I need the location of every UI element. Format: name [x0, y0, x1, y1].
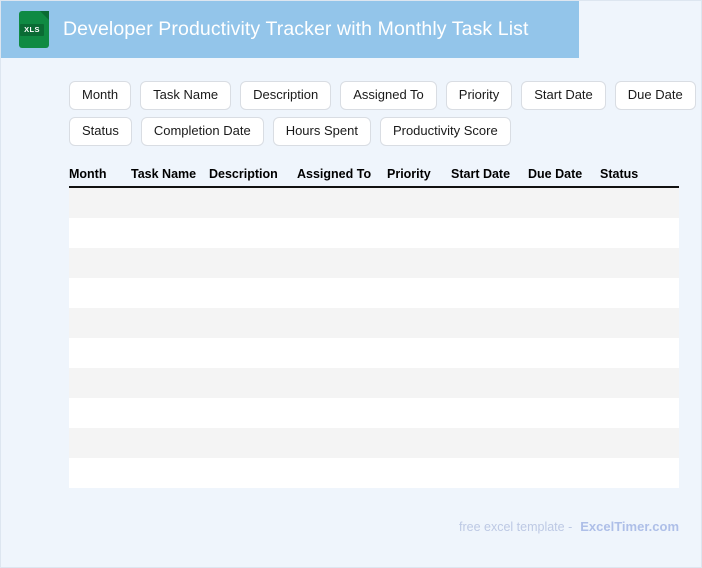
table-row[interactable]: [69, 188, 679, 218]
table-row[interactable]: [69, 248, 679, 278]
field-pill-row-2: Status Completion Date Hours Spent Produ…: [69, 117, 683, 146]
table-column-start-date: Start Date: [451, 167, 528, 181]
field-pill-status[interactable]: Status: [69, 117, 132, 146]
table-column-description: Description: [209, 167, 297, 181]
field-pill-row-1: Month Task Name Description Assigned To …: [69, 81, 683, 110]
field-pill-group: Month Task Name Description Assigned To …: [69, 81, 683, 153]
field-pill-description[interactable]: Description: [240, 81, 331, 110]
field-pill-due-date[interactable]: Due Date: [615, 81, 696, 110]
table-row[interactable]: [69, 368, 679, 398]
field-pill-task-name[interactable]: Task Name: [140, 81, 231, 110]
table-row[interactable]: [69, 218, 679, 248]
table-column-task-name: Task Name: [131, 167, 209, 181]
table-row[interactable]: [69, 278, 679, 308]
footer: free excel template - ExcelTimer.com: [459, 519, 679, 534]
field-pill-hours-spent[interactable]: Hours Spent: [273, 117, 371, 146]
table-column-assigned-to: Assigned To: [297, 167, 387, 181]
table-row[interactable]: [69, 398, 679, 428]
footer-brand-link[interactable]: ExcelTimer.com: [580, 519, 679, 534]
table-row[interactable]: [69, 338, 679, 368]
table-header-row: Month Task Name Description Assigned To …: [69, 167, 679, 188]
task-table: Month Task Name Description Assigned To …: [69, 167, 679, 488]
header-bar: XLS Developer Productivity Tracker with …: [1, 1, 579, 58]
table-row[interactable]: [69, 428, 679, 458]
field-pill-start-date[interactable]: Start Date: [521, 81, 606, 110]
file-icon-fold: [40, 11, 49, 20]
field-pill-assigned-to[interactable]: Assigned To: [340, 81, 437, 110]
table-column-due-date: Due Date: [528, 167, 600, 181]
page-title: Developer Productivity Tracker with Mont…: [63, 18, 529, 41]
table-column-priority: Priority: [387, 167, 451, 181]
field-pill-completion-date[interactable]: Completion Date: [141, 117, 264, 146]
table-column-month: Month: [69, 167, 131, 181]
file-icon-label: XLS: [20, 24, 44, 36]
xls-file-icon: XLS: [19, 11, 49, 48]
field-pill-month[interactable]: Month: [69, 81, 131, 110]
field-pill-priority[interactable]: Priority: [446, 81, 512, 110]
table-row[interactable]: [69, 458, 679, 488]
table-body: [69, 188, 679, 488]
table-column-status: Status: [600, 167, 660, 181]
footer-text: free excel template -: [459, 520, 572, 534]
field-pill-productivity-score[interactable]: Productivity Score: [380, 117, 511, 146]
page-root: XLS Developer Productivity Tracker with …: [0, 0, 702, 568]
table-row[interactable]: [69, 308, 679, 338]
